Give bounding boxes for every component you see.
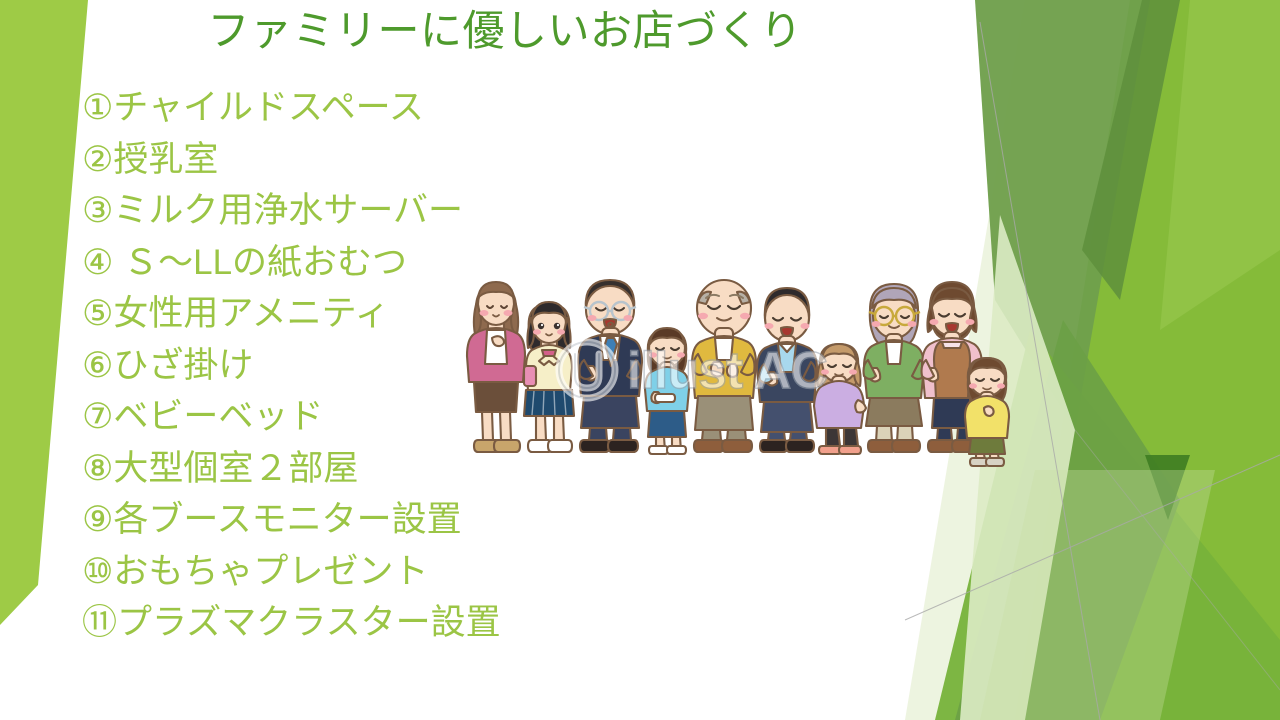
list-item: ②授乳室 [82,134,642,186]
figure-young-man-blue-shirt [757,288,817,452]
facet-pale-sheet-lower [980,470,1215,720]
slide-title: ファミリーに優しいお店づくり [0,8,1010,54]
figure-father-suit-glasses [578,280,642,452]
list-item: ①チャイルドスペース [82,82,642,134]
figure-toddler-yellow-shirt [965,358,1009,466]
figure-schoolgirl-with-phone [524,302,574,452]
presentation-slide: ファミリーに優しいお店づくり ①チャイルドスペース ②授乳室 ③ミルク用浄水サー… [0,0,1280,720]
facet-bright-right [1015,0,1280,720]
figure-grandmother-green-vest [864,284,925,452]
hairline-lower [905,455,1280,620]
figure-little-girl-purple-dress [814,344,866,454]
facet-dark-triangle [1145,455,1190,520]
figure-grandfather-yellow-vest [692,280,756,452]
figure-boy-blue-shirt [645,328,689,454]
list-item: ③ミルク用浄水サーバー [82,185,642,237]
family-illustration: .ol { stroke:#7A5B42; stroke-width:2.1; … [462,268,1022,468]
list-item: ⑨各ブースモニター設置 [82,494,642,546]
facet-light-slice-top [1160,0,1280,330]
hairline-diagonal [1075,430,1280,690]
figure-mother-pink-jacket [467,282,525,452]
facet-dark-spike [1082,0,1180,300]
list-item: ⑩おもちゃプレゼント [82,546,642,598]
list-item: ⑪プラズマクラスター設置 [82,597,642,649]
left-accent-band [0,0,88,625]
